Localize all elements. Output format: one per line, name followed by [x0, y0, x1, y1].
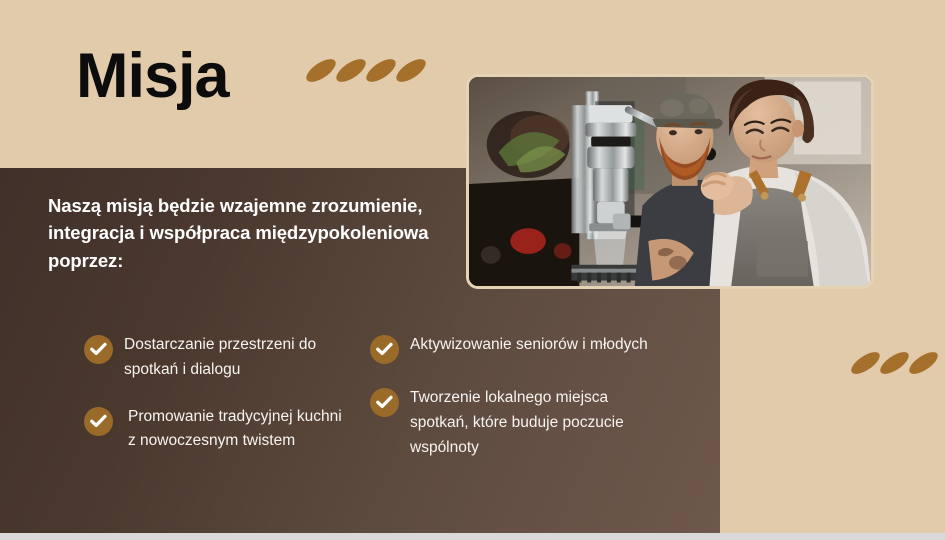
check-icon: [84, 335, 113, 364]
list-item: Tworzenie lokalnego miejsca spotkań, któ…: [370, 386, 670, 460]
slash-mark-icon: [333, 55, 370, 86]
bullet-columns: Dostarczanie przestrzeni do spotkań i di…: [0, 333, 720, 482]
bullet-column-right: Aktywizowanie seniorów i młodych Tworzen…: [370, 333, 670, 482]
slash-mark-icon: [303, 55, 340, 86]
list-item-label: Tworzenie lokalnego miejsca spotkań, któ…: [410, 386, 670, 460]
decorative-slashes-top: [304, 63, 424, 78]
check-icon: [84, 407, 113, 436]
list-item: Promowanie tradycyjnej kuchni z nowoczes…: [84, 405, 352, 455]
slash-mark-icon: [848, 348, 883, 378]
check-icon: [370, 388, 399, 417]
list-item-label: Dostarczanie przestrzeni do spotkań i di…: [124, 333, 352, 383]
list-item: Dostarczanie przestrzeni do spotkań i di…: [84, 333, 352, 383]
slash-mark-icon: [906, 348, 941, 378]
slide-canvas: Misja Naszą misją będzie wzajemne zrozum…: [0, 0, 945, 533]
list-item: Aktywizowanie seniorów i młodych: [370, 333, 670, 364]
list-item-label: Aktywizowanie seniorów i młodych: [410, 333, 648, 358]
check-icon: [370, 335, 399, 364]
slash-mark-icon: [393, 55, 430, 86]
decorative-slashes-right: [849, 356, 936, 370]
viewport-bottom-strip: [0, 533, 945, 540]
bullet-column-left: Dostarczanie przestrzeni do spotkań i di…: [84, 333, 352, 482]
slash-mark-icon: [877, 348, 912, 378]
list-item-label: Promowanie tradycyjnej kuchni z nowoczes…: [124, 405, 352, 455]
mission-statement: Naszą misją będzie wzajemne zrozumienie,…: [48, 192, 448, 274]
page-title: Misja: [76, 45, 229, 108]
photo-illustration: [469, 77, 871, 286]
barista-photo: [466, 74, 874, 289]
slash-mark-icon: [363, 55, 400, 86]
